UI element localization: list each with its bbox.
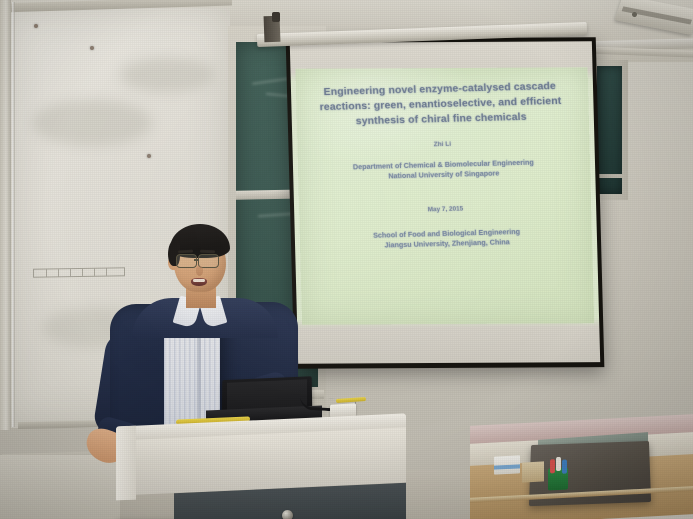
screen-mount-bracket	[272, 12, 280, 22]
whiteboard-seam	[12, 2, 15, 427]
whiteboard-smudge	[120, 58, 216, 92]
lectern	[116, 420, 406, 519]
pen-holder	[522, 461, 544, 482]
presenter-nose	[196, 266, 203, 276]
marker-cup	[548, 467, 568, 490]
whiteboard-pin	[147, 154, 151, 158]
presentation-slide: Engineering novel enzyme-catalysed casca…	[295, 67, 594, 324]
window-sill	[597, 174, 622, 178]
screen-surface: Engineering novel enzyme-catalysed casca…	[290, 41, 600, 363]
whiteboard-pin	[34, 24, 38, 28]
presenter-eyebrow-right	[200, 250, 215, 253]
lectern-lock	[282, 510, 293, 519]
lectern-left-edge	[116, 426, 136, 501]
slide-author-name: Zhi Li	[308, 138, 576, 152]
eyeglasses-bridge	[194, 259, 199, 261]
slide-date: May 7, 2015	[311, 202, 579, 216]
eyeglasses-left-lens	[176, 254, 197, 268]
whiteboard-pin	[90, 46, 94, 50]
lecture-hall-photo: Engineering novel enzyme-catalysed casca…	[0, 0, 693, 519]
lower-wall-panel	[0, 455, 120, 519]
marker-red	[550, 459, 555, 473]
marker-white	[556, 457, 561, 471]
whiteboard-smudge	[32, 100, 152, 146]
whiteboard-frame-left	[0, 0, 11, 430]
marker-blue	[562, 460, 567, 474]
chalk-mark	[258, 213, 292, 217]
projection-screen: Engineering novel enzyme-catalysed casca…	[286, 37, 605, 369]
presenter-teeth	[193, 279, 205, 282]
